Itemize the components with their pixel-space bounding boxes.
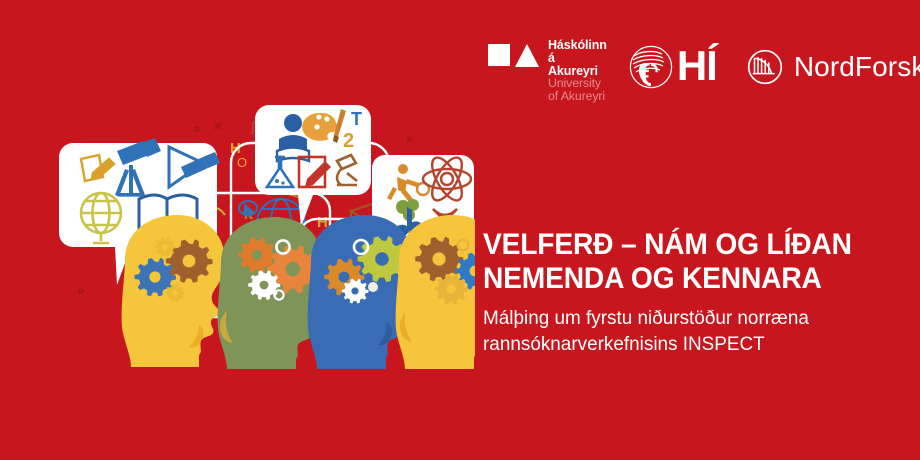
icon-number-2: 2 (343, 130, 354, 152)
head-1 (122, 215, 225, 367)
akureyri-line-4: of Akureyri (548, 90, 607, 103)
head-2 (218, 217, 323, 369)
doodle-cursor (239, 201, 257, 216)
nordforsk-wordmark: NordForsk (794, 53, 920, 81)
page-title: VELFERÐ – NÁM OG LÍÐAN NEMENDA OG KENNAR… (483, 228, 878, 296)
headline-line-1: VELFERÐ – NÁM OG LÍÐAN (483, 228, 878, 262)
headline-line-2: NEMENDA OG KENNARA (483, 262, 878, 296)
logo-nordforsk: NordForsk (747, 49, 920, 85)
hi-wordmark: HÍ (677, 45, 717, 87)
logo-university-of-iceland: HÍ (629, 44, 717, 90)
head-4 (396, 215, 475, 369)
akureyri-line-3: University (548, 77, 607, 90)
square-shape-icon (488, 44, 510, 66)
akureyri-line-2: á Akureyri (548, 52, 607, 78)
subtitle-line-2: rannsóknarverkefnisins INSPECT (483, 332, 890, 357)
triangle-shape-icon (515, 44, 539, 67)
akureyri-wordmark: Háskólinn á Akureyri University of Akure… (548, 38, 607, 102)
illustration-heads-with-gears: H O 2+2 ∫x % P 3 Δα Ш Ƽ π H r D Ε ♪ (55, 95, 475, 380)
logo-university-of-akureyri: Háskólinn á Akureyri University of Akure… (488, 38, 607, 96)
akureyri-line-1: Háskólinn (548, 39, 607, 52)
page-subtitle: Málþing um fyrstu niðurstöður norræna ra… (483, 306, 890, 357)
helmeted-head-emblem-icon (629, 44, 673, 90)
event-banner: Háskólinn á Akureyri University of Akure… (0, 0, 920, 460)
akureyri-mark-icon (488, 44, 539, 67)
nordforsk-circle-icon (747, 49, 783, 85)
svg-text:O: O (237, 155, 247, 170)
subtitle-line-1: Málþing um fyrstu niðurstöður norræna (483, 306, 890, 331)
logo-bar: Háskólinn á Akureyri University of Akure… (488, 38, 920, 96)
text-block: VELFERÐ – NÁM OG LÍÐAN NEMENDA OG KENNAR… (483, 228, 903, 357)
icon-letter-t: T (351, 109, 362, 129)
